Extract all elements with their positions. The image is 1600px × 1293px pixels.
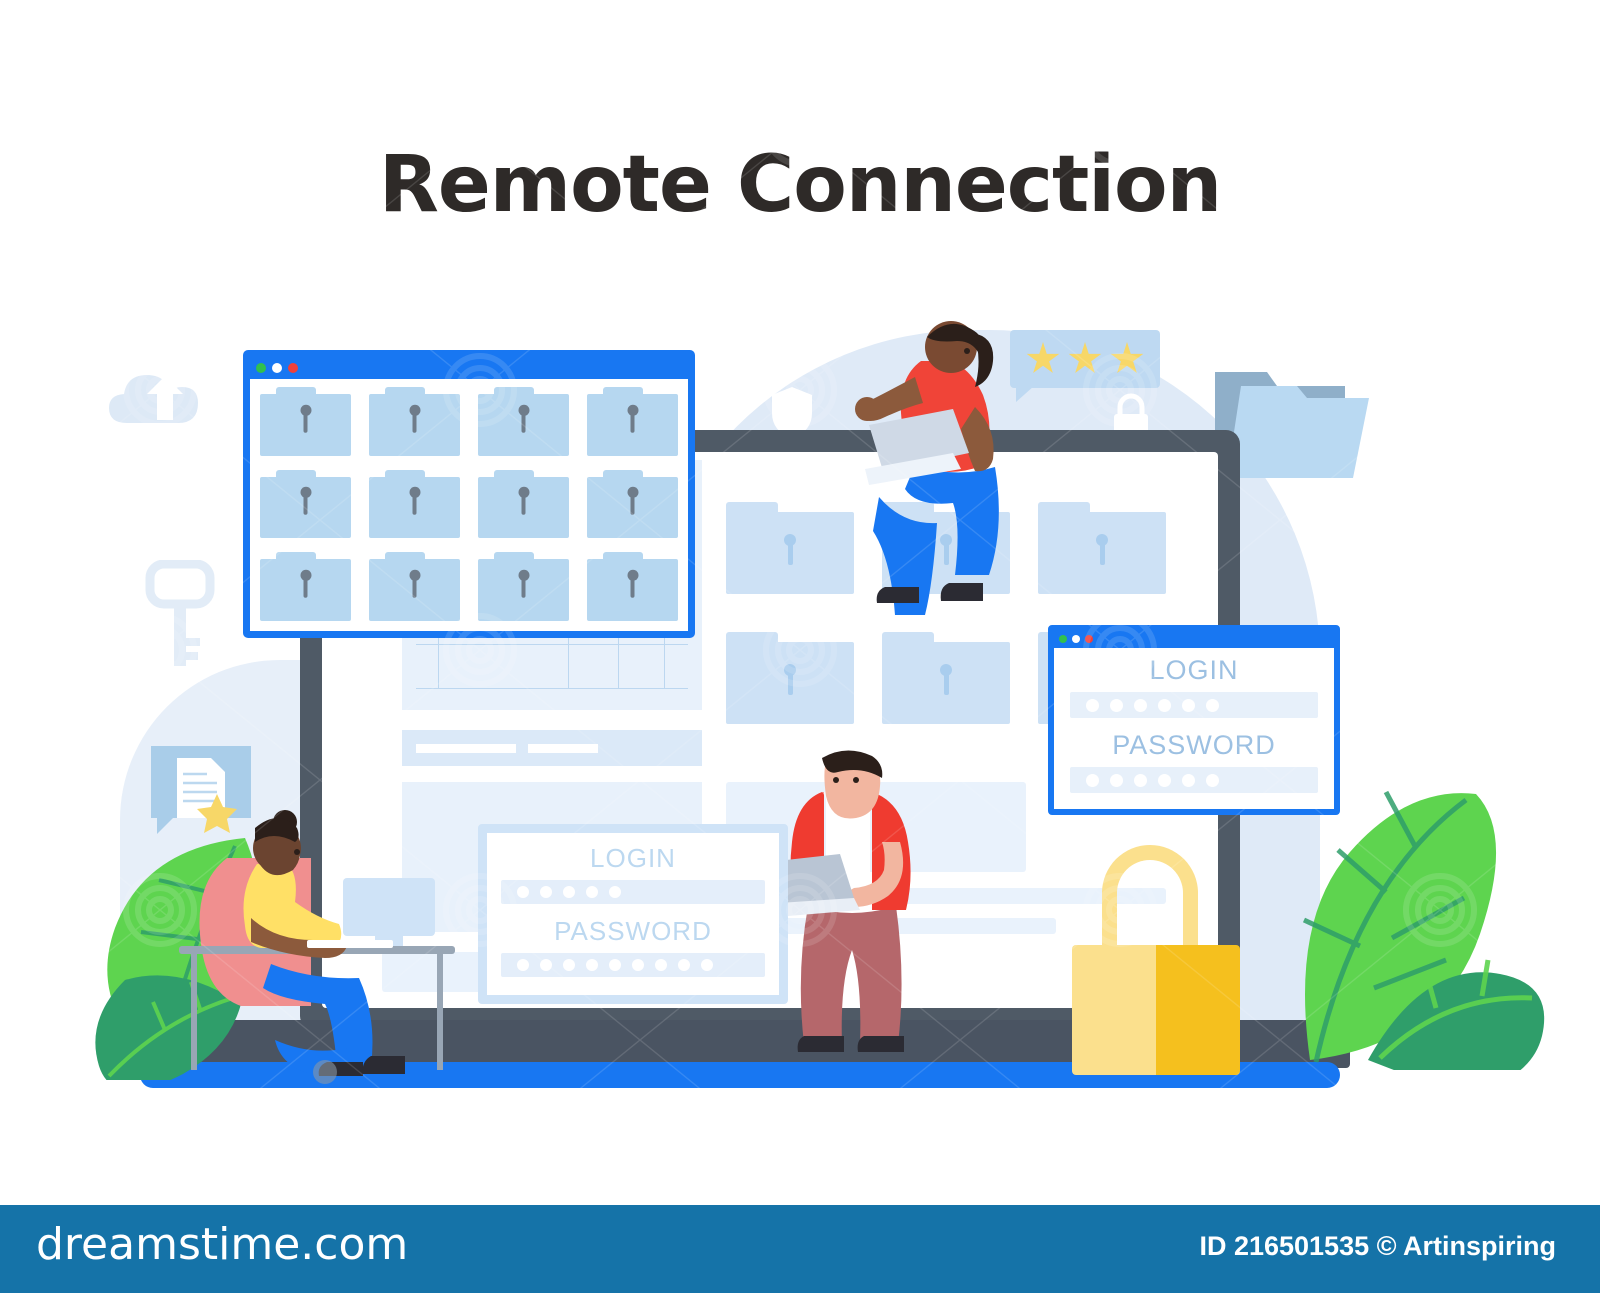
- illustration: LOGIN PASSWORD LOGIN: [0, 0, 1600, 1180]
- folder-key-icon[interactable]: [260, 470, 351, 539]
- login-input[interactable]: [1070, 692, 1318, 718]
- password-input[interactable]: [501, 953, 765, 977]
- folder-key-icon[interactable]: [587, 552, 678, 621]
- password-input[interactable]: [1070, 767, 1318, 793]
- star-icon: [1026, 342, 1060, 376]
- folder-key-icon[interactable]: [260, 552, 351, 621]
- window-titlebar[interactable]: [250, 357, 688, 379]
- key-icon: [140, 560, 220, 675]
- cloud-upload-icon: [105, 368, 225, 428]
- image-credit: ID 216501535 © Artinspiring: [1199, 1231, 1556, 1262]
- password-label: PASSWORD: [487, 916, 779, 947]
- star-rating-badge: [1010, 330, 1160, 388]
- traffic-light-red[interactable]: [288, 363, 298, 373]
- window-titlebar[interactable]: [1054, 631, 1334, 648]
- folder-key-icon: [726, 502, 854, 594]
- folder-key-icon[interactable]: [369, 387, 460, 456]
- star-icon: [1110, 342, 1144, 376]
- traffic-light-red[interactable]: [1085, 635, 1093, 643]
- folder-key-icon[interactable]: [369, 470, 460, 539]
- traffic-light-green[interactable]: [1059, 635, 1067, 643]
- illustration-stage: Remote Connection: [0, 0, 1600, 1293]
- folder-key-icon[interactable]: [587, 470, 678, 539]
- login-window-small[interactable]: LOGIN PASSWORD: [1048, 625, 1340, 815]
- traffic-light-white[interactable]: [1072, 635, 1080, 643]
- standing-man-with-laptop: [760, 750, 950, 1070]
- file-browser-window[interactable]: [243, 350, 695, 638]
- password-label: PASSWORD: [1054, 730, 1334, 761]
- login-input[interactable]: [501, 880, 765, 904]
- folder-key-icon: [882, 632, 1010, 724]
- folder-key-icon[interactable]: [369, 552, 460, 621]
- traffic-light-white[interactable]: [272, 363, 282, 373]
- folder-key-icon[interactable]: [478, 470, 569, 539]
- traffic-light-green[interactable]: [256, 363, 266, 373]
- login-label: LOGIN: [1054, 655, 1334, 686]
- star-icon: [1068, 342, 1102, 376]
- toolbar-strip: [402, 730, 702, 766]
- seated-woman-at-desk: [175, 800, 475, 1090]
- dreamstime-logo: dreamstime.com: [36, 1219, 408, 1270]
- login-panel-large[interactable]: LOGIN PASSWORD: [478, 824, 788, 1004]
- padlock-icon: [1060, 845, 1240, 1075]
- folder-key-icon[interactable]: [587, 387, 678, 456]
- footer-bar: dreamstime.com ID 216501535 © Artinspiri…: [0, 1205, 1600, 1293]
- folder-key-icon[interactable]: [478, 552, 569, 621]
- folder-key-icon[interactable]: [478, 387, 569, 456]
- folder-key-icon[interactable]: [260, 387, 351, 456]
- folder-key-icon: [726, 632, 854, 724]
- folder-grid: [260, 387, 678, 621]
- login-label: LOGIN: [487, 843, 779, 874]
